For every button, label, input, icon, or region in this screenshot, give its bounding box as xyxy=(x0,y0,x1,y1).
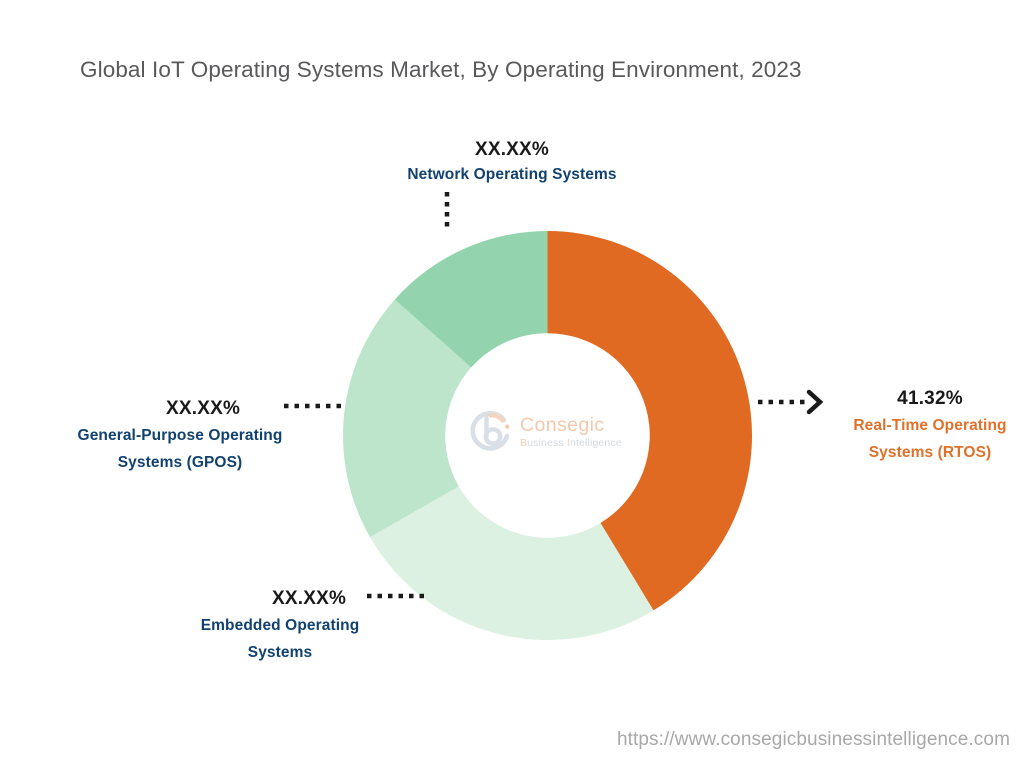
callout-gpos-label-line2: Systems (GPOS) xyxy=(20,452,340,474)
callout-embedded-label-line1: Embedded Operating xyxy=(130,615,430,637)
callout-rtos-label-line1: Real-Time Operating xyxy=(836,415,1024,437)
leader-line-rtos xyxy=(758,388,826,416)
callout-rtos-label-line2: Systems (RTOS) xyxy=(836,442,1024,464)
source-url: https://www.consegicbusinessintelligence… xyxy=(0,729,1010,751)
donut-chart xyxy=(343,231,752,640)
callout-gpos-percent: XX.XX% xyxy=(20,398,340,420)
chart-canvas: Global IoT Operating Systems Market, By … xyxy=(0,0,1024,768)
callout-embedded-label-line2: Systems xyxy=(130,642,430,664)
donut-chart-svg xyxy=(343,231,752,640)
callout-rtos: 41.32% Real-Time Operating Systems (RTOS… xyxy=(836,388,1024,465)
donut-slice-group xyxy=(343,231,752,640)
callout-gpos: XX.XX% General-Purpose Operating Systems… xyxy=(20,398,340,475)
callout-network-operating-systems: XX.XX% Network Operating Systems xyxy=(0,139,1024,186)
callout-network-label: Network Operating Systems xyxy=(0,164,1024,186)
leader-line-network xyxy=(443,192,451,232)
callout-gpos-label-line1: General-Purpose Operating xyxy=(20,425,340,447)
page-title: Global IoT Operating Systems Market, By … xyxy=(80,57,980,83)
callout-embedded-percent: XX.XX% xyxy=(130,588,430,610)
callout-rtos-percent: 41.32% xyxy=(836,388,1024,410)
callout-embedded: XX.XX% Embedded Operating Systems xyxy=(130,588,430,665)
callout-network-percent: XX.XX% xyxy=(0,139,1024,161)
